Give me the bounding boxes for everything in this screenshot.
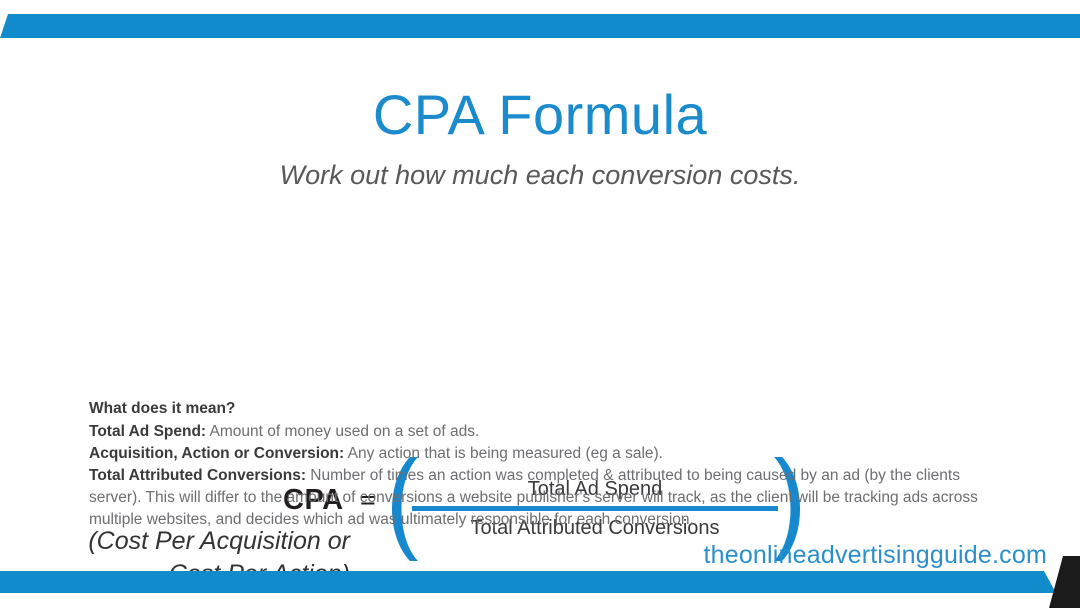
formula-block: CPA = Total Ad Spend Total Attributed Co… — [0, 226, 1080, 376]
bottom-accent-bar — [0, 571, 1080, 593]
explanation-term: Acquisition, Action or Conversion: — [89, 445, 344, 462]
page-title: CPA Formula — [0, 84, 1080, 146]
explanation-item: Total Attributed Conversions: Number of … — [89, 465, 989, 531]
top-accent-bar — [0, 14, 1080, 38]
explanation-text: Any action that is being measured (eg a … — [344, 445, 663, 462]
slide-canvas: CPA Formula Work out how much each conve… — [0, 0, 1080, 608]
explanation-item: Total Ad Spend: Amount of money used on … — [89, 421, 989, 443]
footer-website-url[interactable]: theonlineadvertisingguide.com — [0, 541, 1047, 570]
corner-logo-wedge — [1049, 556, 1080, 608]
page-subtitle: Work out how much each conversion costs. — [0, 159, 1080, 191]
explanation-term: Total Attributed Conversions: — [89, 467, 306, 484]
explanation-block: What does it mean? Total Ad Spend: Amoun… — [89, 398, 989, 531]
explanation-item: Acquisition, Action or Conversion: Any a… — [89, 443, 989, 465]
explanation-heading: What does it mean? — [89, 398, 989, 420]
explanation-term: Total Ad Spend: — [89, 423, 206, 440]
explanation-text: Amount of money used on a set of ads. — [206, 423, 479, 440]
